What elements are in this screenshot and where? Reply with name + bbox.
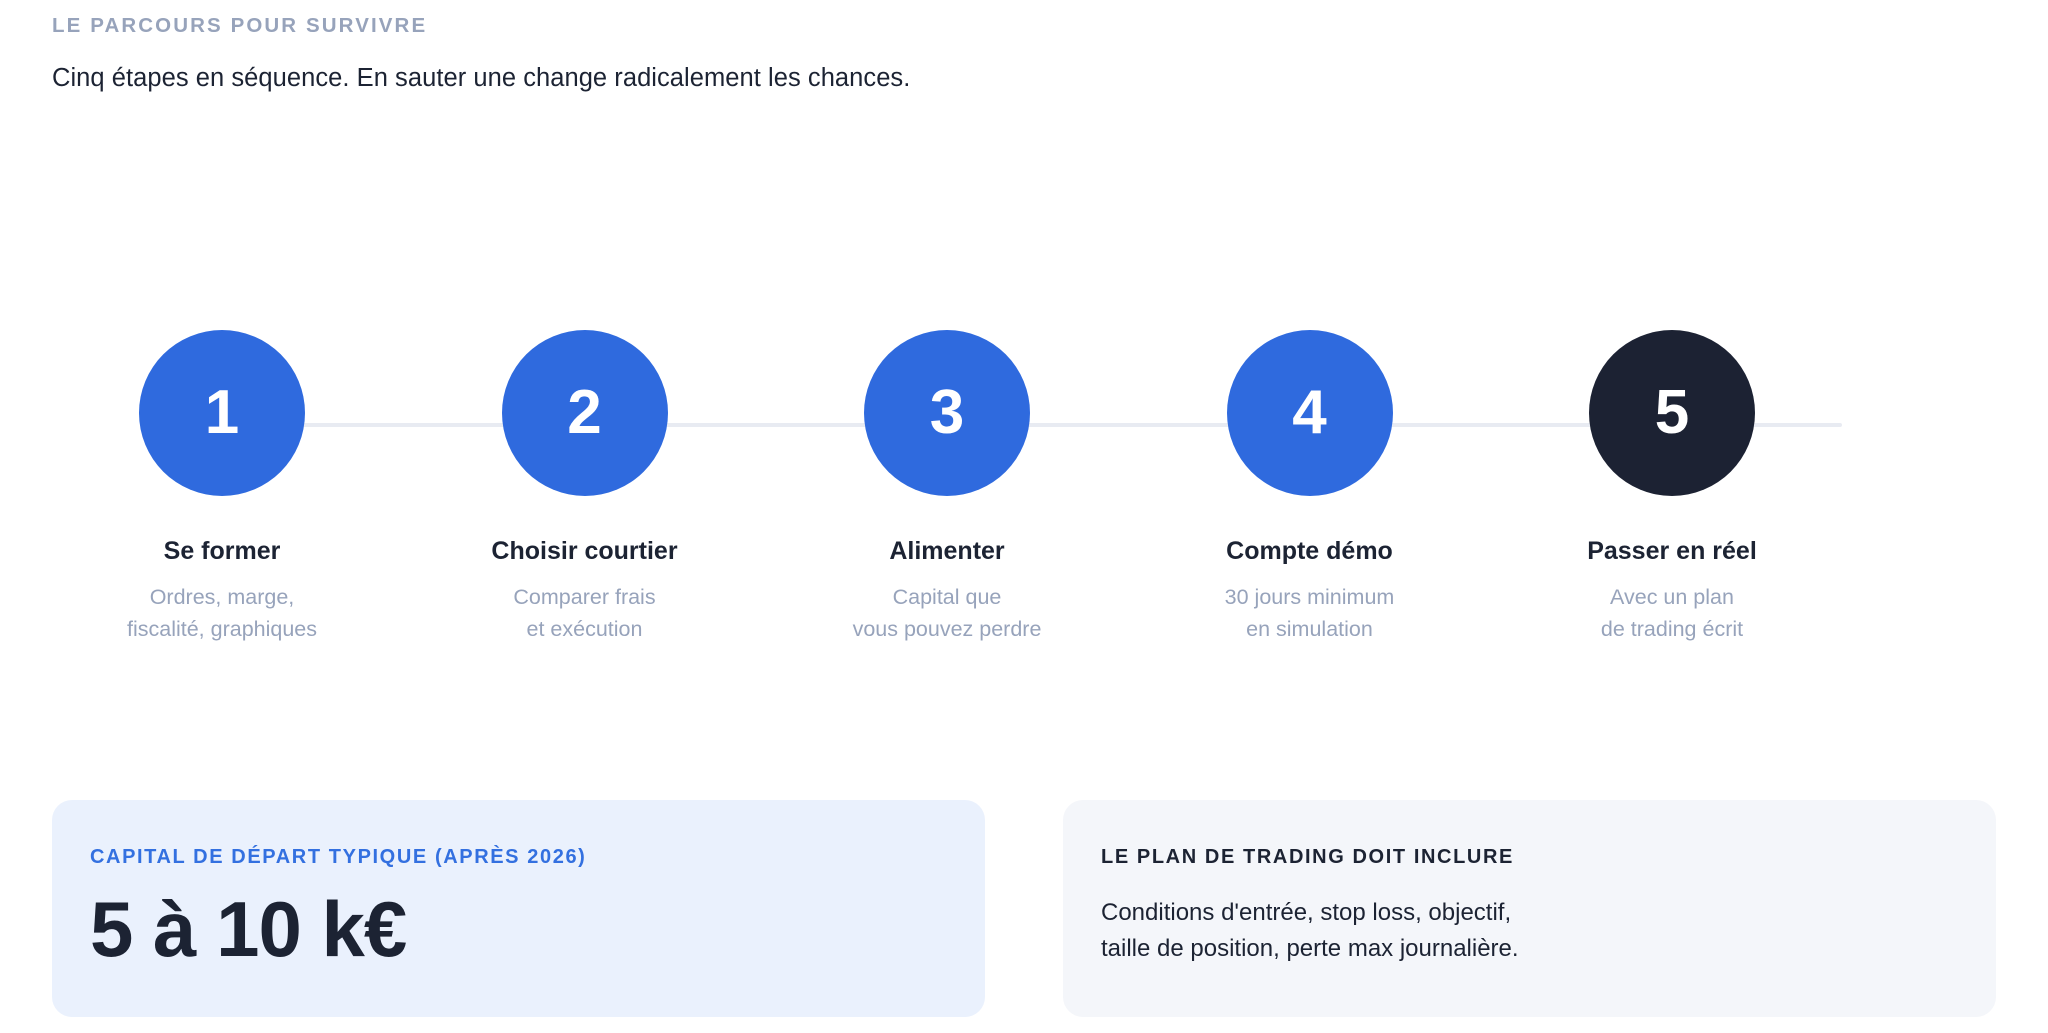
step-description-3: Capital que vous pouvez perdre (853, 582, 1042, 645)
trading-plan-card-body: Conditions d'entrée, stop loss, objectif… (1101, 895, 1956, 967)
step-description-1: Ordres, marge, fiscalité, graphiques (127, 582, 317, 645)
infographic-page: LE PARCOURS POUR SURVIVRE Cinq étapes en… (0, 0, 2048, 1033)
step-timeline: 1 Se former Ordres, marge, fiscalité, gr… (52, 330, 1842, 700)
step-description-5: Avec un plan de trading écrit (1601, 582, 1743, 645)
step-item-5[interactable]: 5 Passer en réel Avec un plan de trading… (1502, 330, 1842, 645)
step-number-badge-2: 2 (502, 330, 668, 496)
step-title-4: Compte démo (1226, 536, 1393, 566)
capital-card: CAPITAL DE DÉPART TYPIQUE (APRÈS 2026) 5… (52, 800, 985, 1017)
step-item-3[interactable]: 3 Alimenter Capital que vous pouvez perd… (777, 330, 1117, 645)
step-description-2: Comparer frais et exécution (513, 582, 655, 645)
step-title-5: Passer en réel (1587, 536, 1757, 566)
step-number-badge-1: 1 (139, 330, 305, 496)
trading-plan-card-label: LE PLAN DE TRADING DOIT INCLURE (1101, 846, 1956, 869)
step-number-badge-3: 3 (864, 330, 1030, 496)
step-number-badge-5: 5 (1589, 330, 1755, 496)
step-number-badge-4: 4 (1227, 330, 1393, 496)
step-list: 1 Se former Ordres, marge, fiscalité, gr… (52, 330, 1842, 645)
step-item-1[interactable]: 1 Se former Ordres, marge, fiscalité, gr… (52, 330, 392, 645)
section-eyebrow: LE PARCOURS POUR SURVIVRE (52, 14, 427, 38)
step-title-1: Se former (164, 536, 281, 566)
step-item-4[interactable]: 4 Compte démo 30 jours minimum en simula… (1140, 330, 1480, 645)
section-lede: Cinq étapes en séquence. En sauter une c… (52, 64, 910, 93)
step-description-4: 30 jours minimum en simulation (1225, 582, 1395, 645)
trading-plan-card: LE PLAN DE TRADING DOIT INCLURE Conditio… (1063, 800, 1996, 1017)
step-title-2: Choisir courtier (491, 536, 677, 566)
summary-cards: CAPITAL DE DÉPART TYPIQUE (APRÈS 2026) 5… (52, 800, 1996, 1017)
step-item-2[interactable]: 2 Choisir courtier Comparer frais et exé… (415, 330, 755, 645)
step-title-3: Alimenter (889, 536, 1004, 566)
capital-card-label: CAPITAL DE DÉPART TYPIQUE (APRÈS 2026) (90, 846, 945, 869)
capital-card-value: 5 à 10 k€ (90, 887, 945, 971)
